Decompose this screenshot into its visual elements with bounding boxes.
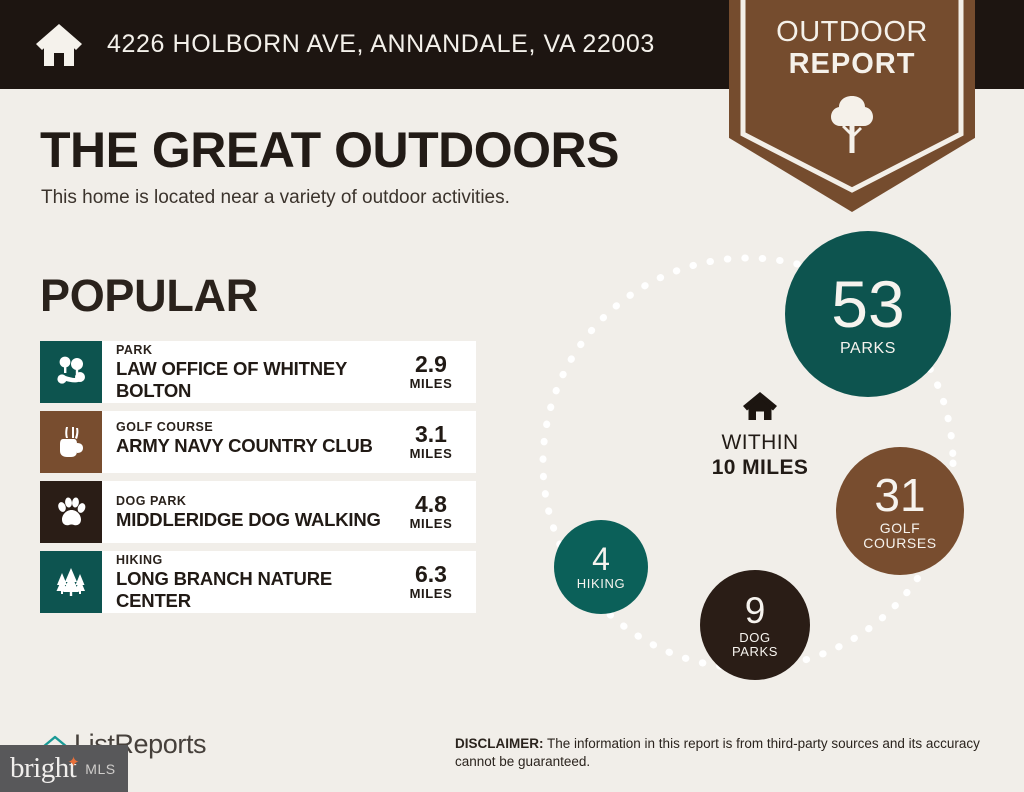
list-item[interactable]: GOLF COURSE ARMY NAVY COUNTRY CLUB 3.1 M… <box>40 411 476 473</box>
bubble-count: 4 <box>592 543 610 575</box>
page-subtitle: This home is located near a variety of o… <box>41 187 510 209</box>
bubble-count: 53 <box>831 271 904 337</box>
distance-unit: MILES <box>410 376 453 392</box>
list-item-name: MIDDLERIDGE DOG WALKING <box>116 509 392 531</box>
badge-title-line1: OUTDOOR <box>729 16 975 48</box>
list-item-name: LAW OFFICE OF WHITNEY BOLTON <box>116 358 392 402</box>
popular-list: PARK LAW OFFICE OF WHITNEY BOLTON 2.9 MI… <box>40 341 476 621</box>
bubble-count: 31 <box>874 472 925 518</box>
bubble-dog-parks[interactable]: 9 DOG PARKS <box>700 570 810 680</box>
list-item-text: GOLF COURSE ARMY NAVY COUNTRY CLUB <box>102 411 392 473</box>
list-item-text: HIKING LONG BRANCH NATURE CENTER <box>102 551 392 613</box>
house-icon <box>741 390 779 422</box>
distance-value: 4.8 <box>415 492 447 516</box>
bubble-label: HIKING <box>577 577 625 591</box>
property-address: 4226 HOLBORN AVE, ANNANDALE, VA 22003 <box>107 30 655 59</box>
list-item-name: LONG BRANCH NATURE CENTER <box>116 568 392 612</box>
list-item-text: PARK LAW OFFICE OF WHITNEY BOLTON <box>102 341 392 403</box>
list-item-text: DOG PARK MIDDLERIDGE DOG WALKING <box>102 481 392 543</box>
bubble-label-line2: COURSES <box>863 536 936 551</box>
popular-section-heading: POPULAR <box>40 270 258 322</box>
bubble-golf-courses[interactable]: 31 GOLF COURSES <box>836 447 964 575</box>
bubble-label-line1: GOLF <box>863 521 936 536</box>
watermark-brand: bright ✦ <box>10 752 76 785</box>
star-icon: ✦ <box>67 753 79 772</box>
distance-value: 2.9 <box>415 352 447 376</box>
distance-unit: MILES <box>410 586 453 602</box>
badge-title-line2: REPORT <box>729 48 975 80</box>
disclaimer: DISCLAIMER: The information in this repo… <box>455 735 1000 771</box>
bubble-label: DOG PARKS <box>732 631 778 658</box>
distance-unit: MILES <box>410 446 453 462</box>
bubble-label: PARKS <box>840 341 896 358</box>
list-item[interactable]: DOG PARK MIDDLERIDGE DOG WALKING 4.8 MIL… <box>40 481 476 543</box>
distance-unit: MILES <box>410 516 453 532</box>
list-item-category: PARK <box>116 343 392 358</box>
page-title: THE GREAT OUTDOORS <box>40 121 619 179</box>
bubble-label-line2: PARKS <box>732 645 778 659</box>
bubble-label-line1: DOG <box>732 631 778 645</box>
tree-icon <box>826 94 878 154</box>
golf-bag-icon <box>40 411 102 473</box>
house-icon <box>33 19 85 71</box>
badge-title: OUTDOOR REPORT <box>729 16 975 80</box>
list-item-distance: 6.3 MILES <box>392 551 476 613</box>
list-item-distance: 4.8 MILES <box>392 481 476 543</box>
watermark-suffix: MLS <box>85 761 115 777</box>
center-label-line1: WITHIN <box>680 430 840 455</box>
center-label-line2: 10 MILES <box>680 455 840 480</box>
list-item-category: GOLF COURSE <box>116 420 392 435</box>
list-item[interactable]: PARK LAW OFFICE OF WHITNEY BOLTON 2.9 MI… <box>40 341 476 403</box>
bubble-count: 9 <box>745 592 766 629</box>
bubble-label: GOLF COURSES <box>863 521 936 550</box>
bubble-hiking[interactable]: 4 HIKING <box>554 520 648 614</box>
within-10-miles-bubble-chart: 53 PARKS 31 GOLF COURSES 9 DOG PARKS 4 H… <box>520 225 1010 685</box>
list-item-category: DOG PARK <box>116 494 392 509</box>
list-item[interactable]: HIKING LONG BRANCH NATURE CENTER 6.3 MIL… <box>40 551 476 613</box>
paw-print-icon <box>40 481 102 543</box>
list-item-name: ARMY NAVY COUNTRY CLUB <box>116 435 392 457</box>
disclaimer-label: DISCLAIMER: <box>455 736 544 751</box>
chart-center-label: WITHIN 10 MILES <box>680 390 840 480</box>
list-item-category: HIKING <box>116 553 392 568</box>
list-item-distance: 2.9 MILES <box>392 341 476 403</box>
distance-value: 6.3 <box>415 562 447 586</box>
distance-value: 3.1 <box>415 422 447 446</box>
bright-mls-watermark: bright ✦ MLS <box>0 745 128 792</box>
outdoor-report-badge: OUTDOOR REPORT <box>729 0 975 212</box>
bubble-parks[interactable]: 53 PARKS <box>785 231 951 397</box>
list-item-distance: 3.1 MILES <box>392 411 476 473</box>
park-trees-icon <box>40 341 102 403</box>
pine-trees-icon <box>40 551 102 613</box>
